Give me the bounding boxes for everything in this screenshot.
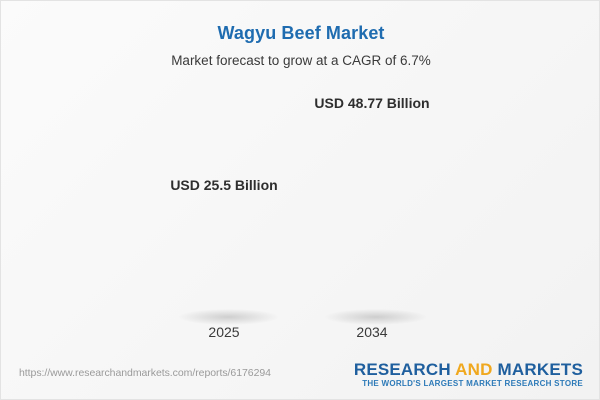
- bar-shadow-2034: [325, 309, 427, 325]
- source-url[interactable]: https://www.researchandmarkets.com/repor…: [19, 367, 271, 379]
- logo-tagline: THE WORLD'S LARGEST MARKET RESEARCH STOR…: [354, 380, 583, 389]
- chart-card: Wagyu Beef Market Market forecast to gro…: [0, 0, 600, 400]
- bar-value-label-2034: USD 48.77 Billion: [314, 95, 429, 111]
- category-label-2025: 2025: [208, 324, 239, 340]
- brand-logo[interactable]: RESEARCH AND MARKETS THE WORLD'S LARGEST…: [354, 360, 583, 389]
- bar-shadow-2025: [178, 309, 278, 325]
- bar-value-label-2025: USD 25.5 Billion: [170, 177, 277, 193]
- logo-word-research: RESEARCH: [354, 360, 451, 379]
- plot-area: USD 25.5 Billion 2025 USD 48.77 Billion: [1, 1, 600, 356]
- logo-word-and: AND: [455, 360, 492, 379]
- logo-word-markets: MARKETS: [498, 360, 583, 379]
- footer: https://www.researchandmarkets.com/repor…: [1, 354, 600, 399]
- logo-wordmark: RESEARCH AND MARKETS: [354, 360, 583, 379]
- category-label-2034: 2034: [356, 324, 387, 340]
